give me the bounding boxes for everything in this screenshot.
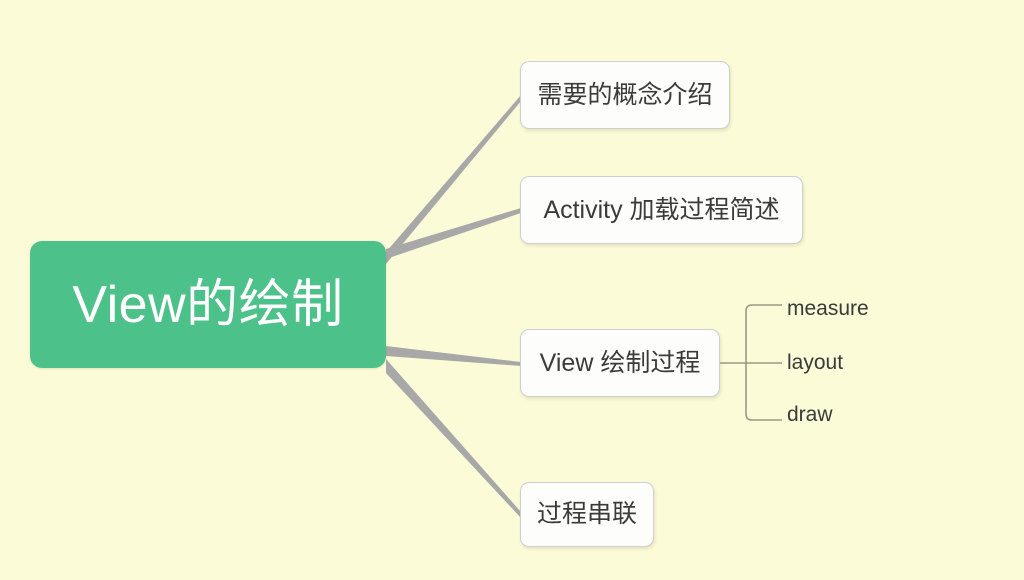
mindmap-canvas: View的绘制 需要的概念介绍 Activity 加载过程简述 View 绘制过… xyxy=(0,0,1024,580)
branch-node-viewdraw-label: View 绘制过程 xyxy=(540,351,701,376)
root-node[interactable]: View的绘制 xyxy=(30,241,386,368)
branch-node-concepts-label: 需要的概念介绍 xyxy=(537,83,712,108)
branch-node-activity-label: Activity 加载过程简述 xyxy=(543,198,779,223)
branch-node-viewdraw[interactable]: View 绘制过程 xyxy=(520,329,720,397)
leaf-node-layout[interactable]: layout xyxy=(787,352,843,373)
connector-root-to-chain xyxy=(386,359,521,518)
connector-root-to-concepts xyxy=(386,95,521,264)
connector-root-to-viewdraw xyxy=(386,346,521,366)
branch-node-concepts[interactable]: 需要的概念介绍 xyxy=(520,61,730,129)
branch-node-chain[interactable]: 过程串联 xyxy=(520,482,654,547)
leaf-node-measure[interactable]: measure xyxy=(787,298,869,319)
branch-node-activity[interactable]: Activity 加载过程简述 xyxy=(520,176,803,244)
branch-node-chain-label: 过程串联 xyxy=(537,502,637,527)
leaf-node-draw[interactable]: draw xyxy=(787,404,833,425)
root-node-label: View的绘制 xyxy=(72,279,343,331)
